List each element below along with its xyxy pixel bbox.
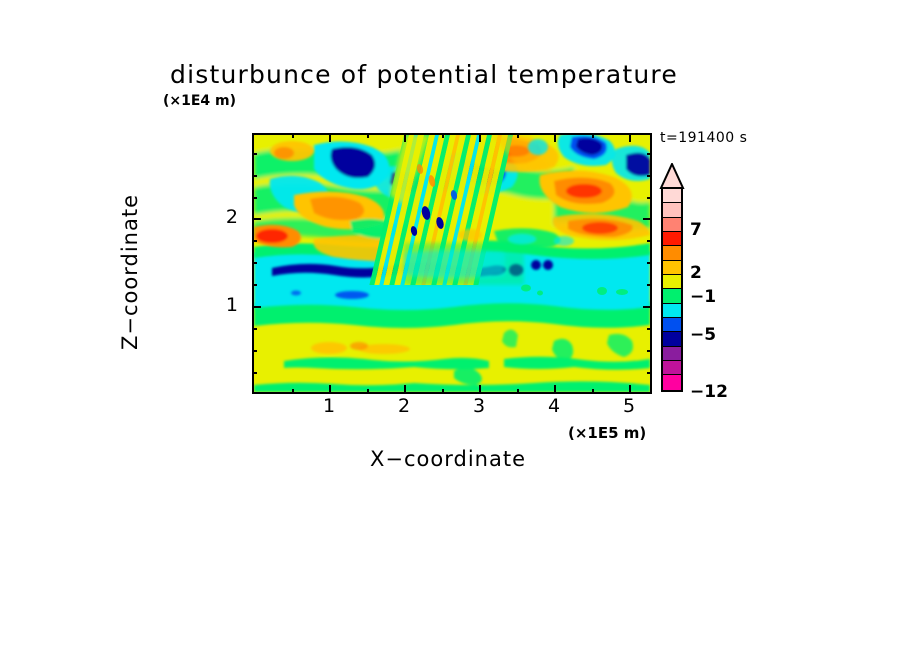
- colorbar-label-m12: −12: [690, 382, 728, 402]
- colorbar-label-m1: −1: [690, 287, 716, 307]
- x-tick-minor: [592, 389, 594, 394]
- x-tick-minor: [367, 389, 369, 394]
- y-tick-minor: [252, 175, 257, 177]
- x-tick-major-3: [479, 385, 481, 394]
- colorbar-band-0: [663, 189, 681, 203]
- colorbar-band-5: [663, 261, 681, 275]
- colorbar-label-2: 2: [690, 263, 702, 283]
- x-tick-top-minor: [442, 133, 444, 138]
- x-tick-top-major: [404, 133, 406, 142]
- y-tick-right-minor: [647, 284, 652, 286]
- colorbar-band-7: [663, 289, 681, 303]
- x-tick-top-major: [479, 133, 481, 142]
- x-tick-top-major: [629, 133, 631, 142]
- figure-root: disturbunce of potential temperature (×1…: [0, 0, 904, 654]
- y-tick-minor: [252, 240, 257, 242]
- x-tick-label-2: 2: [389, 395, 419, 417]
- x-tick-top-minor: [517, 133, 519, 138]
- x-tick-top-major: [329, 133, 331, 142]
- colorbar-band-4: [663, 246, 681, 260]
- colorbar-band-10: [663, 332, 681, 346]
- colorbar-band-1: [663, 203, 681, 217]
- x-tick-minor: [517, 389, 519, 394]
- colorbar-arrow-icon: [659, 163, 685, 189]
- x-tick-major-1: [329, 385, 331, 394]
- x-tick-top-minor: [367, 133, 369, 138]
- z-unit-label: (×1E4 m): [163, 93, 236, 109]
- x-tick-label-4: 4: [539, 395, 569, 417]
- colorbar-band-13: [663, 375, 681, 389]
- y-tick-major-1: [252, 306, 261, 308]
- colorbar-band-8: [663, 304, 681, 318]
- y-tick-right-minor: [647, 240, 652, 242]
- x-tick-minor: [442, 389, 444, 394]
- colorbar-band-6: [663, 275, 681, 289]
- y-tick-right-minor: [647, 197, 652, 199]
- x-tick-major-5: [629, 385, 631, 394]
- y-tick-label-2: 2: [216, 206, 238, 228]
- x-axis-title: X−coordinate: [370, 447, 526, 471]
- x-tick-top-minor: [292, 133, 294, 138]
- y-tick-minor: [252, 284, 257, 286]
- colorbar-band-3: [663, 232, 681, 246]
- y-axis-title: Z−coordinate: [118, 122, 142, 422]
- y-tick-right-minor: [647, 350, 652, 352]
- y-tick-major-2: [252, 218, 261, 220]
- y-tick-minor: [252, 328, 257, 330]
- colorbar-band-12: [663, 361, 681, 375]
- y-tick-minor: [252, 350, 257, 352]
- y-tick-right-minor: [647, 328, 652, 330]
- y-tick-minor: [252, 262, 257, 264]
- x-tick-major-4: [554, 385, 556, 394]
- y-tick-label-1: 1: [216, 294, 238, 316]
- y-tick-right-minor: [647, 372, 652, 374]
- x-tick-major-2: [404, 385, 406, 394]
- colorbar-band-2: [663, 218, 681, 232]
- x-tick-label-1: 1: [314, 395, 344, 417]
- colorbar-label-m5: −5: [690, 325, 716, 345]
- colorbar: [661, 187, 683, 392]
- x-tick-top-minor: [592, 133, 594, 138]
- contour-plot-area: [252, 133, 652, 394]
- x-unit-label: (×1E5 m): [568, 424, 646, 442]
- y-tick-right-major: [643, 306, 652, 308]
- y-tick-right-minor: [647, 175, 652, 177]
- y-tick-minor: [252, 153, 257, 155]
- x-tick-minor: [292, 389, 294, 394]
- y-tick-right-minor: [647, 153, 652, 155]
- y-tick-right-major: [643, 218, 652, 220]
- y-tick-right-minor: [647, 262, 652, 264]
- x-tick-top-major: [554, 133, 556, 142]
- x-tick-label-5: 5: [614, 395, 644, 417]
- y-tick-minor: [252, 372, 257, 374]
- contour-field: [254, 135, 650, 392]
- colorbar-band-11: [663, 347, 681, 361]
- colorbar-label-7: 7: [690, 220, 702, 240]
- time-annotation: t=191400 s: [660, 130, 747, 146]
- colorbar-band-9: [663, 318, 681, 332]
- x-tick-label-3: 3: [464, 395, 494, 417]
- y-tick-minor: [252, 197, 257, 199]
- page-title: disturbunce of potential temperature: [170, 60, 770, 89]
